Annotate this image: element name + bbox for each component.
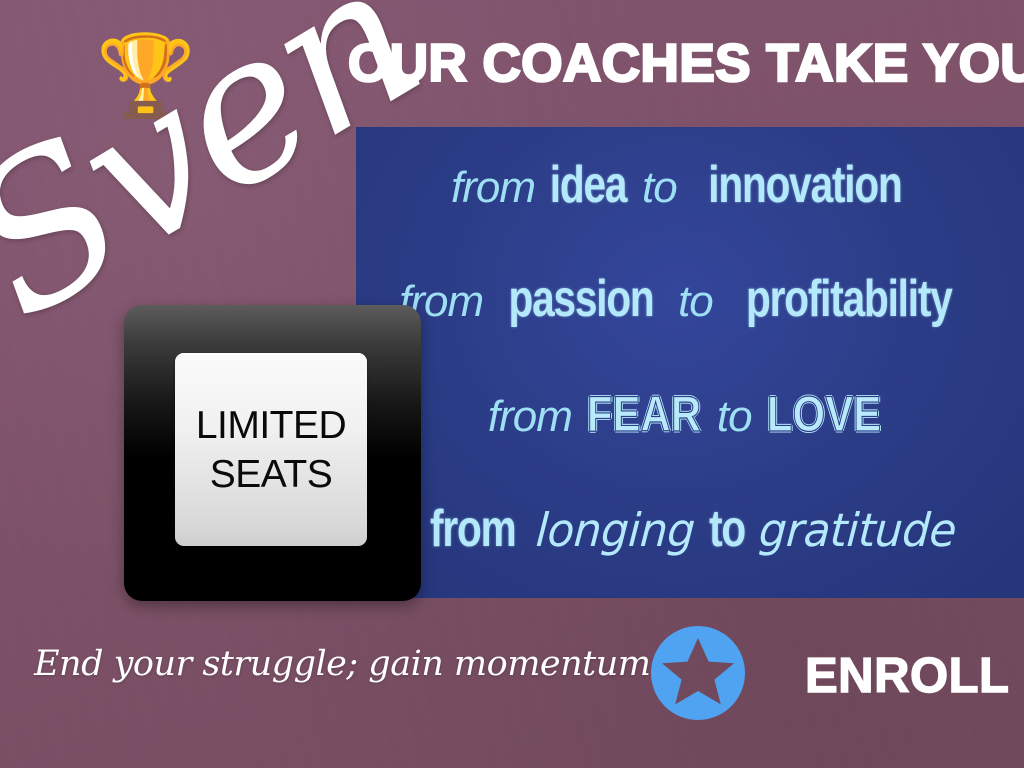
promise-lead-word: from <box>488 392 572 441</box>
promise-lead-word: from <box>451 163 535 212</box>
promise-key-from: idea <box>550 155 626 215</box>
promise-key-from: passion <box>508 269 653 329</box>
promise-mid-word: to <box>678 277 713 326</box>
headline-text: OUR COACHES TAKE YOU <box>348 35 1024 93</box>
limited-seats-line-1: LIMITED <box>196 401 346 450</box>
limited-seats-button[interactable]: LIMITED SEATS <box>124 305 421 601</box>
promise-line: from idea to innovation <box>356 155 1024 215</box>
promise-line: from FEAR to LOVE <box>356 385 1024 443</box>
promise-line: from longing to gratitude <box>356 499 1024 559</box>
promise-lead-word: from <box>430 499 515 559</box>
promise-line: from passion to profitability <box>356 269 1024 329</box>
promise-mid-word: to <box>642 163 677 212</box>
limited-seats-face[interactable]: LIMITED SEATS <box>175 353 367 546</box>
star-in-circle-icon[interactable] <box>650 625 746 721</box>
enroll-button[interactable]: ENROLL <box>805 650 1009 702</box>
promise-mid-word: to <box>709 499 745 559</box>
promise-panel: from idea to innovation from passion to … <box>356 127 1024 598</box>
sven-wordmark: Sven <box>0 0 399 350</box>
promise-key-to: profitability <box>746 269 952 329</box>
promise-mid-word: to <box>717 392 752 441</box>
promise-key-to: gratitude <box>758 503 959 557</box>
promotional-slide: 🏆 Sven OUR COACHES TAKE YOU from idea to… <box>0 0 1024 768</box>
promise-key-to: LOVE <box>767 385 881 443</box>
limited-seats-line-2: SEATS <box>210 450 332 499</box>
tagline-text: End your struggle; gain momentum. <box>34 642 661 686</box>
promise-key-from: FEAR <box>587 385 701 443</box>
promise-key-from: longing <box>535 503 697 557</box>
promise-key-to: innovation <box>708 155 901 215</box>
